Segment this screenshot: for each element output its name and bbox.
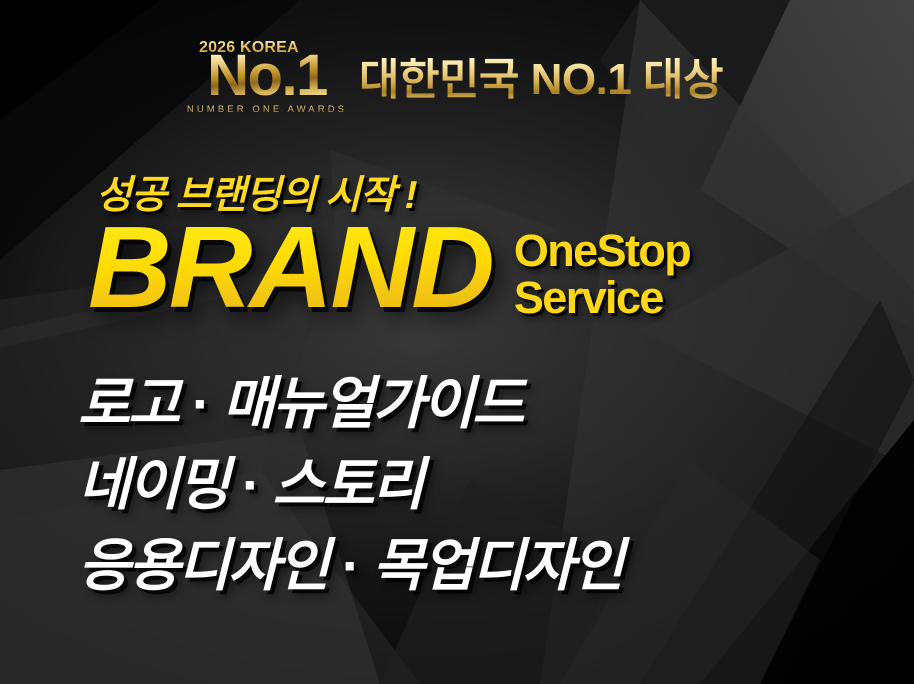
- service-separator-icon: ·: [178, 364, 222, 445]
- onestop-line-2: Service: [514, 275, 690, 322]
- award-emblem: 2026 KOREA No.1 NUMBER ONE AWARDS: [191, 34, 343, 138]
- emblem-top-row: 2026 KOREA: [191, 34, 343, 56]
- service-line: 로고·매뉴얼가이드: [78, 364, 622, 445]
- service-item-right: 스토리: [272, 453, 422, 517]
- emblem-year-label: 2026 KOREA: [199, 40, 299, 56]
- award-header: 2026 KOREA No.1 NUMBER ONE AWARDS 대한민국 N…: [0, 34, 914, 138]
- emblem-number-label: No.1: [207, 52, 327, 100]
- service-separator-icon: ·: [228, 445, 272, 526]
- award-title: 대한민국 NO.1 대상: [359, 58, 723, 102]
- service-separator-icon: ·: [328, 526, 372, 607]
- service-item-left: 응용디자인: [78, 534, 328, 598]
- brand-promo-banner: 2026 KOREA No.1 NUMBER ONE AWARDS 대한민국 N…: [0, 0, 914, 684]
- service-list: 로고·매뉴얼가이드 네이밍·스토리 응용디자인·목업디자인: [78, 364, 622, 607]
- emblem-subtitle-label: NUMBER ONE AWARDS: [187, 105, 347, 115]
- service-item-left: 네이밍: [78, 453, 228, 517]
- service-line: 네이밍·스토리: [78, 445, 622, 526]
- service-line: 응용디자인·목업디자인: [78, 526, 622, 607]
- onestop-line-1: OneStop: [514, 228, 690, 275]
- headline-row: BRAND OneStop Service: [88, 214, 690, 322]
- service-item-left: 로고: [78, 372, 178, 436]
- service-item-right: 매뉴얼가이드: [222, 372, 522, 436]
- brand-word: BRAND: [88, 214, 492, 321]
- onestop-service-label: OneStop Service: [514, 228, 690, 322]
- service-item-right: 목업디자인: [372, 534, 622, 598]
